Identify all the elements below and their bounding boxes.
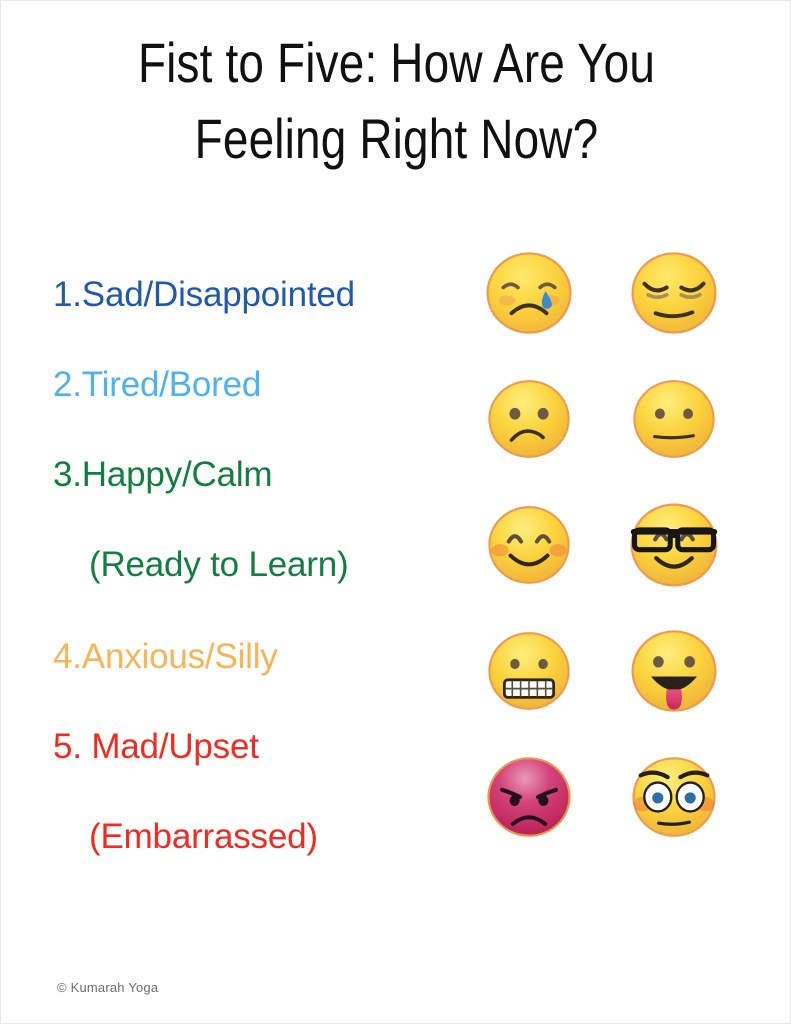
scale-item-4-number: 4. bbox=[53, 637, 82, 676]
emoji-row-level-3 bbox=[456, 497, 746, 593]
scale-item-3-sublabel: (Ready to Learn) bbox=[53, 545, 489, 585]
fist-to-five-scale-list: 1.Sad/Disappointed 2.Tired/Bored 3.Happy… bbox=[53, 237, 453, 887]
emoji-row-level-2 bbox=[456, 371, 746, 467]
pouting-angry-face-emoji bbox=[456, 752, 601, 842]
grimace-teeth-shape bbox=[504, 680, 553, 698]
emoji-row-level-4 bbox=[456, 623, 746, 719]
page-title-line-2: Feeling Right Now? bbox=[72, 101, 721, 177]
scale-item-3-label: Happy/Calm bbox=[82, 455, 273, 494]
pensive-face-emoji bbox=[601, 247, 746, 339]
copyright-credit: © Kumarah Yoga bbox=[57, 980, 158, 995]
emoji-row-level-5 bbox=[456, 749, 746, 845]
smiling-blushing-face-emoji bbox=[456, 501, 601, 589]
page-title-line-1: Fist to Five: How Are You bbox=[72, 25, 721, 101]
scale-item-3: 3.Happy/Calm bbox=[53, 455, 453, 495]
scale-item-3-number: 3. bbox=[53, 455, 82, 494]
confused-face-emoji bbox=[456, 375, 601, 463]
handout-page: Fist to Five: How Are You Feeling Right … bbox=[0, 0, 791, 1024]
tongue-out-face-emoji bbox=[601, 625, 746, 717]
emoji-row-level-1 bbox=[456, 245, 746, 341]
page-title: Fist to Five: How Are You Feeling Right … bbox=[1, 25, 791, 177]
scale-item-2-number: 2. bbox=[53, 365, 82, 404]
scale-item-2: 2.Tired/Bored bbox=[53, 365, 453, 405]
scale-item-5-sublabel: (Embarrassed) bbox=[53, 817, 489, 857]
grimacing-face-emoji bbox=[456, 627, 601, 715]
scale-item-1-number: 1. bbox=[53, 275, 82, 314]
scale-item-4-label: Anxious/Silly bbox=[82, 637, 278, 676]
scale-item-4: 4.Anxious/Silly bbox=[53, 637, 453, 677]
scale-item-2-label: Tired/Bored bbox=[82, 365, 261, 404]
scale-item-1-label: Sad/Disappointed bbox=[82, 275, 355, 314]
scale-item-1: 1.Sad/Disappointed bbox=[53, 275, 453, 315]
scale-item-5-label: Mad/Upset bbox=[91, 727, 258, 766]
crying-face-emoji bbox=[456, 247, 601, 339]
flushed-face-emoji bbox=[601, 752, 746, 842]
nerd-face-emoji bbox=[601, 498, 746, 592]
scale-item-5: 5. Mad/Upset bbox=[53, 727, 453, 767]
neutral-face-emoji bbox=[601, 375, 746, 463]
emoji-grid bbox=[456, 237, 746, 887]
scale-item-5-number: 5. bbox=[53, 727, 91, 766]
body-area: 1.Sad/Disappointed 2.Tired/Bored 3.Happy… bbox=[1, 237, 791, 887]
